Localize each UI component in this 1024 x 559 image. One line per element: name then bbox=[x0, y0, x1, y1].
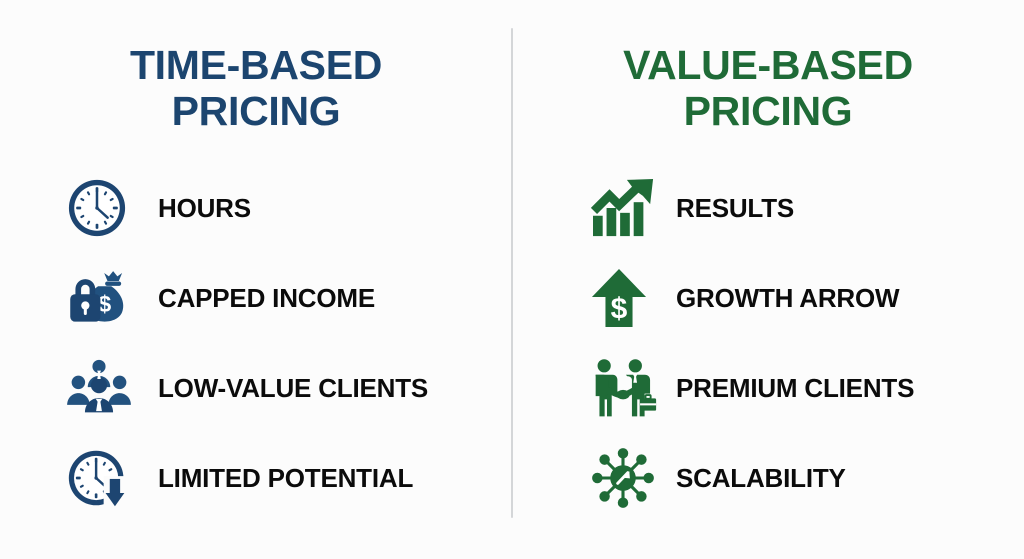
list-item-label: HOURS bbox=[158, 193, 251, 224]
right-items-list: RESULTS $ GROWTH ARROW bbox=[512, 163, 1024, 523]
right-column-title: VALUE-BASED PRICING bbox=[512, 42, 1024, 134]
list-item: RESULTS bbox=[590, 163, 1024, 253]
list-item: LIMITED POTENTIAL bbox=[66, 433, 578, 523]
clock-down-arrow-icon bbox=[66, 438, 144, 518]
list-item-label: SCALABILITY bbox=[676, 463, 846, 494]
svg-text:$: $ bbox=[611, 292, 628, 325]
left-title-line-2: PRICING bbox=[0, 88, 512, 134]
right-title-line-2: PRICING bbox=[512, 88, 1024, 134]
left-title-line-1: TIME-BASED bbox=[0, 42, 512, 88]
list-item: HOURS bbox=[66, 163, 578, 253]
dollar-up-arrow-icon: $ bbox=[590, 258, 668, 338]
handshake-briefcase-icon bbox=[590, 348, 668, 428]
value-based-pricing-column: VALUE-BASED PRICING bbox=[512, 0, 1024, 559]
list-item-label: LOW-VALUE CLIENTS bbox=[158, 373, 428, 404]
infographic-canvas: TIME-BASED PRICING bbox=[0, 0, 1024, 559]
list-item-label: CAPPED INCOME bbox=[158, 283, 375, 314]
right-title-line-1: VALUE-BASED bbox=[512, 42, 1024, 88]
padlock-money-bag-icon: $ bbox=[66, 258, 144, 338]
left-column-title: TIME-BASED PRICING bbox=[0, 42, 512, 134]
list-item-label: PREMIUM CLIENTS bbox=[676, 373, 914, 404]
network-hub-arrow-icon bbox=[590, 438, 668, 518]
list-item: SCALABILITY bbox=[590, 433, 1024, 523]
clock-icon bbox=[66, 168, 144, 248]
list-item: $ GROWTH ARROW bbox=[590, 253, 1024, 343]
list-item-label: LIMITED POTENTIAL bbox=[158, 463, 413, 494]
people-group-icon bbox=[66, 348, 144, 428]
list-item-label: RESULTS bbox=[676, 193, 794, 224]
left-items-list: HOURS $ bbox=[0, 163, 578, 523]
list-item: LOW-VALUE CLIENTS bbox=[66, 343, 578, 433]
time-based-pricing-column: TIME-BASED PRICING bbox=[0, 0, 512, 559]
list-item: PREMIUM CLIENTS bbox=[590, 343, 1024, 433]
bar-chart-up-arrow-icon bbox=[590, 168, 668, 248]
list-item-label: GROWTH ARROW bbox=[676, 283, 899, 314]
list-item: $ CAPPED INCOME bbox=[66, 253, 578, 343]
